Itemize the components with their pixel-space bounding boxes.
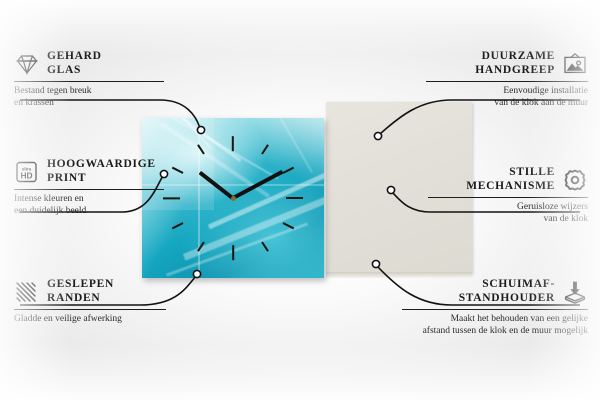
clock-tick — [286, 197, 303, 199]
glass-seam-vertical — [198, 118, 200, 278]
svg-text:HD: HD — [20, 170, 32, 180]
product-illustration — [130, 100, 470, 290]
callout-description: Bestand tegen breuk en krassen — [14, 86, 164, 109]
clock-tick — [172, 223, 183, 230]
clock-tick — [232, 245, 234, 260]
callout-description: Geruisloze wijzers van de klok — [428, 202, 588, 225]
callout-description: Intense kleuren en een duidelijk beeld — [14, 194, 164, 217]
callout-description: Eenvoudige installatie van de klok aan d… — [426, 86, 588, 109]
callout-description: Maakt het behouden van een gelijke afsta… — [402, 314, 588, 337]
callout-hoogwaardige-print[interactable]: ultra HD HOOGWAARDIGE PRINT Intense kleu… — [14, 158, 164, 217]
callout-title: HOOGWAARDIGE PRINT — [47, 158, 156, 185]
callout-title: STILLE MECHANISME — [466, 166, 555, 193]
callout-geslepen-randen[interactable]: GESLEPEN RANDEN Gladde en veilige afwerk… — [14, 278, 166, 326]
clock-center-cap — [231, 196, 236, 201]
callout-divider — [426, 81, 588, 82]
picture-frame-icon — [562, 52, 588, 76]
clock-tick — [261, 242, 269, 252]
callout-stille-mechanisme[interactable]: STILLE MECHANISME Geruisloze wijzers van… — [428, 166, 588, 225]
feather-streak — [166, 222, 308, 276]
glass-seam-horizontal — [142, 184, 324, 186]
callout-divider — [428, 197, 588, 198]
ultra-hd-icon: ultra HD — [14, 160, 40, 184]
callout-title: SCHUIMAF- STANDHOUDER — [459, 278, 555, 305]
clock-tick — [163, 197, 180, 199]
callout-divider — [14, 309, 166, 310]
callout-gehard-glas[interactable]: GEHARD GLAS Bestand tegen breuk en krass… — [14, 50, 164, 109]
callout-title: GEHARD GLAS — [47, 50, 102, 77]
beveled-edges-icon — [14, 280, 40, 304]
feather-streak — [261, 118, 313, 173]
clock-tick — [232, 137, 234, 152]
callout-divider — [402, 309, 588, 310]
gear-icon — [562, 168, 588, 192]
glass-clock-face — [142, 118, 324, 278]
diamond-icon — [14, 52, 40, 76]
callout-schuimafstandhouder[interactable]: SCHUIMAF- STANDHOUDER Maakt het behouden… — [402, 278, 588, 337]
callout-title: DUURZAME HANDGREEP — [475, 50, 555, 77]
clock-tick — [283, 166, 294, 173]
callout-title: GESLEPEN RANDEN — [47, 278, 114, 305]
press-down-pad-icon — [562, 280, 588, 304]
callout-description: Gladde en veilige afwerking — [14, 314, 166, 326]
callout-duurzame-handgreep[interactable]: DUURZAME HANDGREEP Eenvoudige installati… — [426, 50, 588, 109]
callout-divider — [14, 81, 164, 82]
clock-tick — [261, 144, 269, 154]
callout-divider — [14, 189, 164, 190]
infographic-stage: GEHARD GLAS Bestand tegen breuk en krass… — [0, 0, 600, 400]
